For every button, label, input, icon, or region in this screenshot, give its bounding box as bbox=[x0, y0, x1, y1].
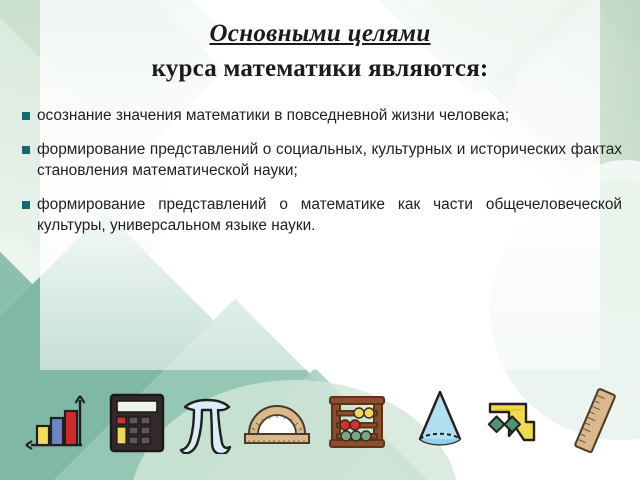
protractor-icon bbox=[240, 400, 314, 450]
title-line-1: Основными целями bbox=[0, 18, 640, 49]
slide-content: Основными целями курса математики являют… bbox=[0, 0, 640, 236]
slide-title: Основными целями курса математики являют… bbox=[0, 0, 640, 86]
list-item: осознание значения математики в повседне… bbox=[22, 106, 622, 126]
abacus-icon bbox=[327, 392, 387, 454]
bar-chart-icon bbox=[20, 390, 92, 456]
ruler-icon bbox=[568, 386, 624, 456]
square-bullet-icon bbox=[22, 112, 30, 120]
illustration-strip bbox=[0, 360, 640, 480]
square-bullet-icon bbox=[22, 201, 30, 209]
list-item-text: осознание значения математики в повседне… bbox=[37, 106, 622, 126]
title-line-2: курса математики являются: bbox=[0, 53, 640, 86]
list-item-text: формирование представлений о математике … bbox=[37, 195, 622, 236]
set-square-x-icon bbox=[482, 394, 548, 452]
pi-symbol-icon bbox=[178, 392, 236, 454]
list-item: формирование представлений о социальных,… bbox=[22, 140, 622, 181]
square-bullet-icon bbox=[22, 146, 30, 154]
slide-canvas: Основными целями курса математики являют… bbox=[0, 0, 640, 480]
bullet-list: осознание значения математики в повседне… bbox=[22, 106, 622, 236]
list-item-text: формирование представлений о социальных,… bbox=[37, 140, 622, 181]
calculator-icon bbox=[108, 392, 166, 454]
cone-icon bbox=[412, 388, 468, 454]
list-item: формирование представлений о математике … bbox=[22, 195, 622, 236]
